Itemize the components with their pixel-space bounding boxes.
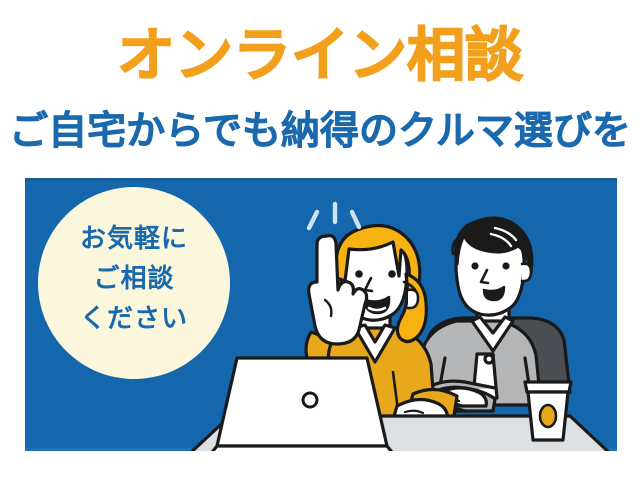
badge-line-2: ご相談	[38, 259, 230, 299]
badge-line-1: お気軽に	[38, 219, 230, 259]
page-title: オンライン相談	[0, 24, 640, 86]
badge-text: お気軽に ご相談 ください	[38, 219, 230, 339]
sparkle-icon	[309, 204, 359, 228]
page-subtitle: ご自宅からでも納得のクルマ選びを	[0, 108, 640, 156]
status-badge: お気軽に ご相談 ください	[38, 187, 230, 379]
laptop	[209, 358, 395, 451]
headline-area: オンライン相談 ご自宅からでも納得のクルマ選びを	[0, 0, 640, 172]
coffee-cup	[525, 382, 571, 440]
illustration-panel: お気軽に ご相談 ください	[25, 178, 617, 451]
online-consultation-banner: オンライン相談 ご自宅からでも納得のクルマ選びを	[0, 0, 640, 480]
badge-line-3: ください	[38, 299, 230, 339]
